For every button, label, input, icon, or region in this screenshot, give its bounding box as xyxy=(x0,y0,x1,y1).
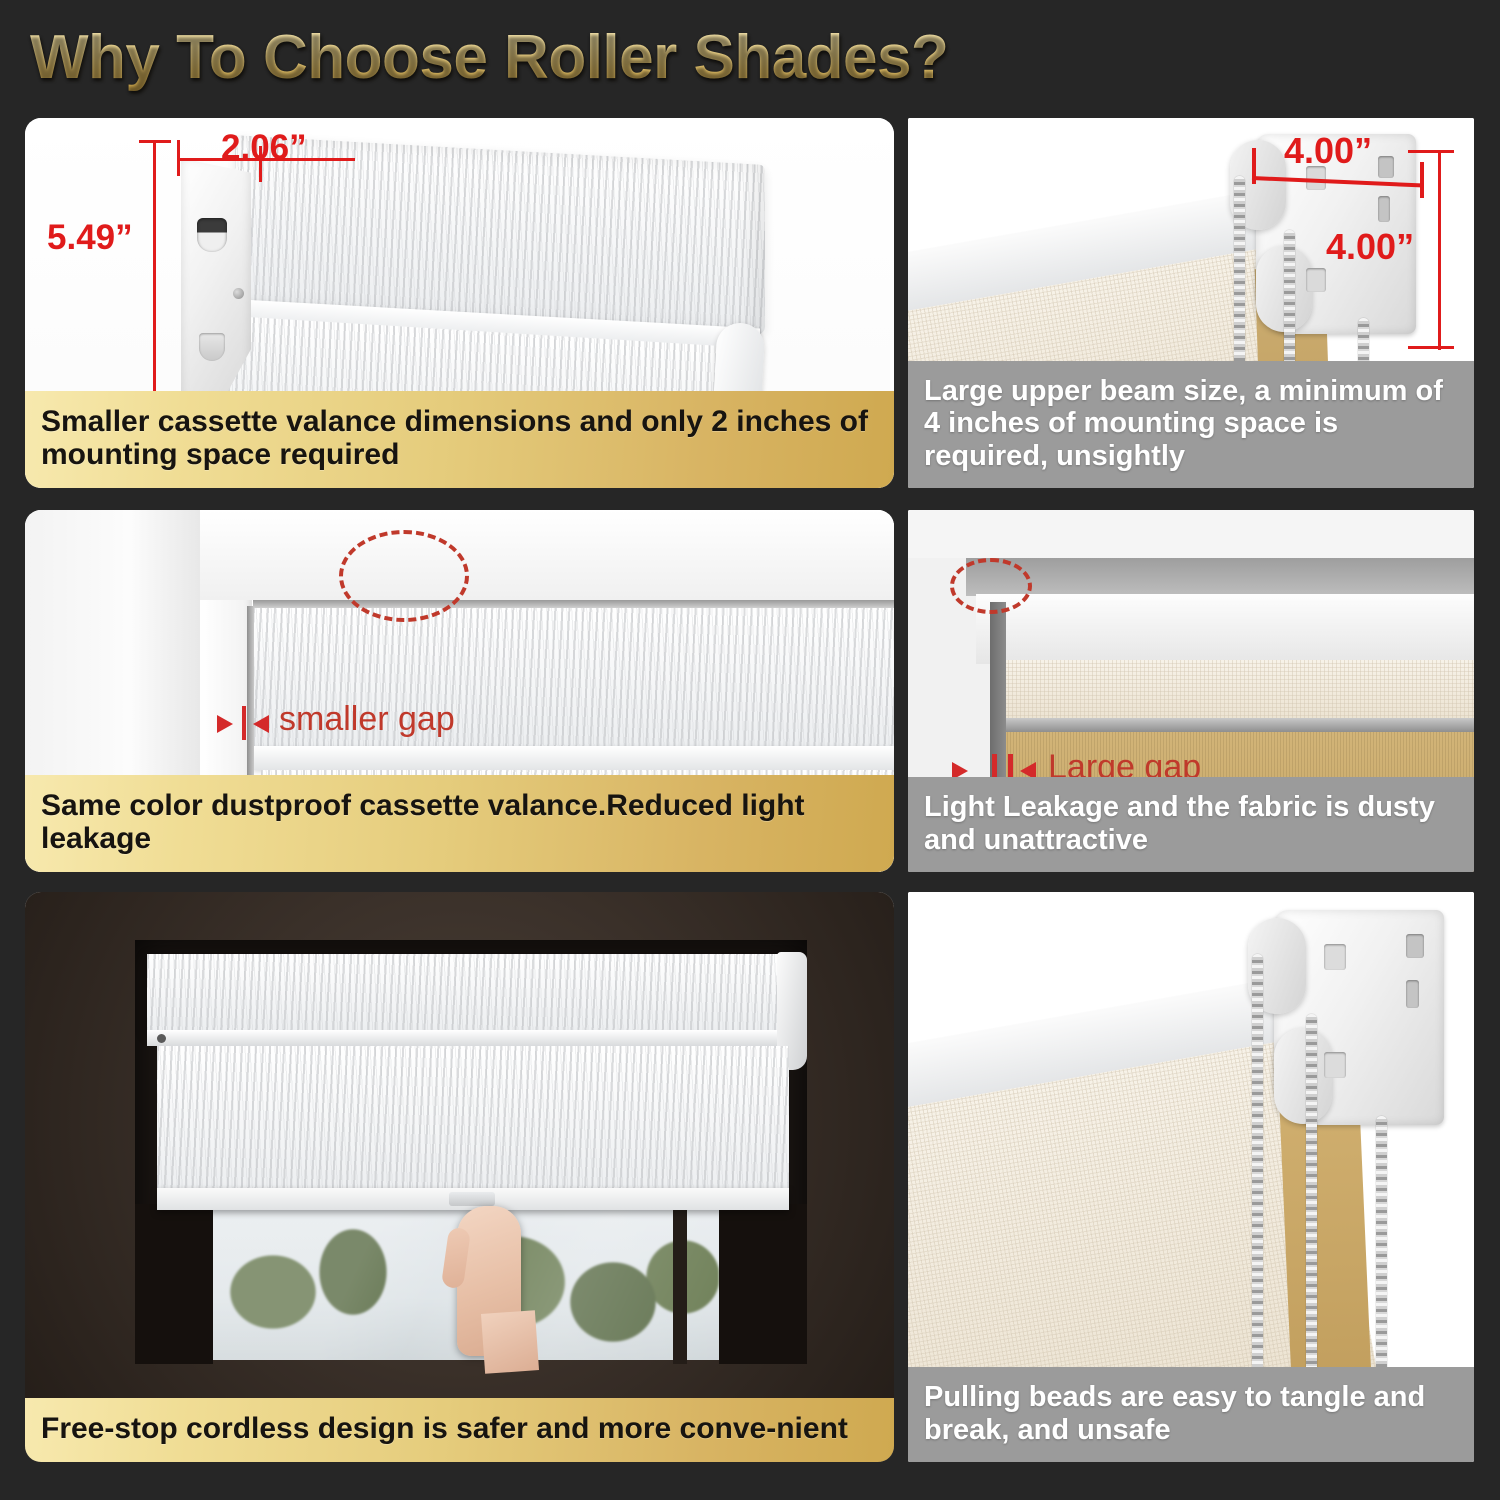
bracket-screw xyxy=(233,288,244,299)
headrail-top xyxy=(966,558,1474,596)
dim-tick-bottom-h xyxy=(1408,346,1454,349)
caption-pro-dustproof-valance: Same color dustproof cassette valance.Re… xyxy=(25,775,894,872)
bottom-rail-grip xyxy=(449,1192,495,1206)
cassette-screw xyxy=(157,1034,166,1043)
dim-line-5-49 xyxy=(153,140,156,415)
caption-con-light-leakage: Light Leakage and the fabric is dusty an… xyxy=(908,777,1474,872)
gap-measure-bar xyxy=(242,706,246,740)
bead-bracket-hook-upper xyxy=(1324,944,1346,970)
forearm xyxy=(481,1310,539,1374)
panel-pro-dustproof-valance: smaller gap Same color dustproof cassett… xyxy=(25,510,894,872)
infographic-root: Why To Choose Roller Shades? Why To Choo… xyxy=(0,0,1500,1500)
highlight-dashed-ellipse xyxy=(339,530,469,622)
pulling-bead-chain-2 xyxy=(1306,1014,1317,1384)
caption-con-beam-size: Large upper beam size, a minimum of 4 in… xyxy=(908,361,1474,488)
bracket-slot-1 xyxy=(1378,156,1394,178)
bracket-socket-lower xyxy=(199,333,225,361)
pulling-bead-chain-1 xyxy=(1252,954,1263,1384)
window-jamb-left xyxy=(135,1204,213,1364)
window-jamb-right xyxy=(719,1204,807,1364)
ceiling-strip xyxy=(908,510,1474,558)
dim-label-2-06: 2.06” xyxy=(221,128,307,168)
cassette-valance-lip xyxy=(147,1030,797,1046)
bead-bracket-slot-2 xyxy=(1406,980,1419,1008)
shade-fabric-main xyxy=(157,1046,789,1194)
cassette-valance xyxy=(147,954,797,1032)
panel-con-light-leakage: Large gap Light Leakage and the fabric i… xyxy=(908,510,1474,872)
caption-pro-cordless-design: Free-stop cordless design is safer and m… xyxy=(25,1398,894,1462)
headrail-face xyxy=(976,594,1474,664)
gap-label-smaller: smaller gap xyxy=(279,700,455,739)
dim-tick-right-w xyxy=(1420,162,1424,198)
dim-tick-top-h xyxy=(1408,150,1454,153)
dim-line-beam-height xyxy=(1438,150,1441,350)
dim-label-5-49: 5.49” xyxy=(47,218,133,258)
dim-tick-top-5-49 xyxy=(139,140,171,143)
gap-arrow-left xyxy=(217,715,233,733)
bead-bracket-hook-lower xyxy=(1324,1052,1346,1078)
rail-lip xyxy=(996,718,1474,732)
bracket-socket-upper xyxy=(197,218,227,252)
gap-arrow-right xyxy=(253,715,269,733)
panel-con-pulling-beads: Pulling beads are easy to tangle and bre… xyxy=(908,892,1474,1462)
window-mullion xyxy=(673,1204,687,1364)
dim-label-beam-height: 4.00” xyxy=(1326,226,1414,268)
panel-con-beam-size: 4.00” 4.00” Large upper beam size, a min… xyxy=(908,118,1474,488)
mounting-bracket xyxy=(181,158,251,403)
bead-bracket-slot-1 xyxy=(1406,934,1424,958)
panel-pro-cassette-size: 2.06” 5.49” Smaller cassette valance dim… xyxy=(25,118,894,488)
photo-room-window xyxy=(25,892,894,1462)
highlight-dashed-circle-leak xyxy=(950,558,1032,614)
window-frame-top xyxy=(200,510,894,600)
dim-label-beam-width: 4.00” xyxy=(1284,130,1372,172)
bracket-slot-2 xyxy=(1378,196,1390,222)
pulling-bead-chain-3 xyxy=(1376,1116,1387,1384)
page-title: Why To Choose Roller Shades? xyxy=(30,22,948,93)
valance-bottom-lip xyxy=(253,746,894,770)
cream-fabric-band xyxy=(996,660,1474,720)
bead-fabric-tan-back xyxy=(1280,1108,1373,1401)
panel-pro-cordless-design: Free-stop cordless design is safer and m… xyxy=(25,892,894,1462)
caption-pro-cassette-size: Smaller cassette valance dimensions and … xyxy=(25,391,894,488)
bracket-hook-icon-lower xyxy=(1306,268,1326,292)
caption-con-pulling-beads: Pulling beads are easy to tangle and bre… xyxy=(908,1367,1474,1462)
